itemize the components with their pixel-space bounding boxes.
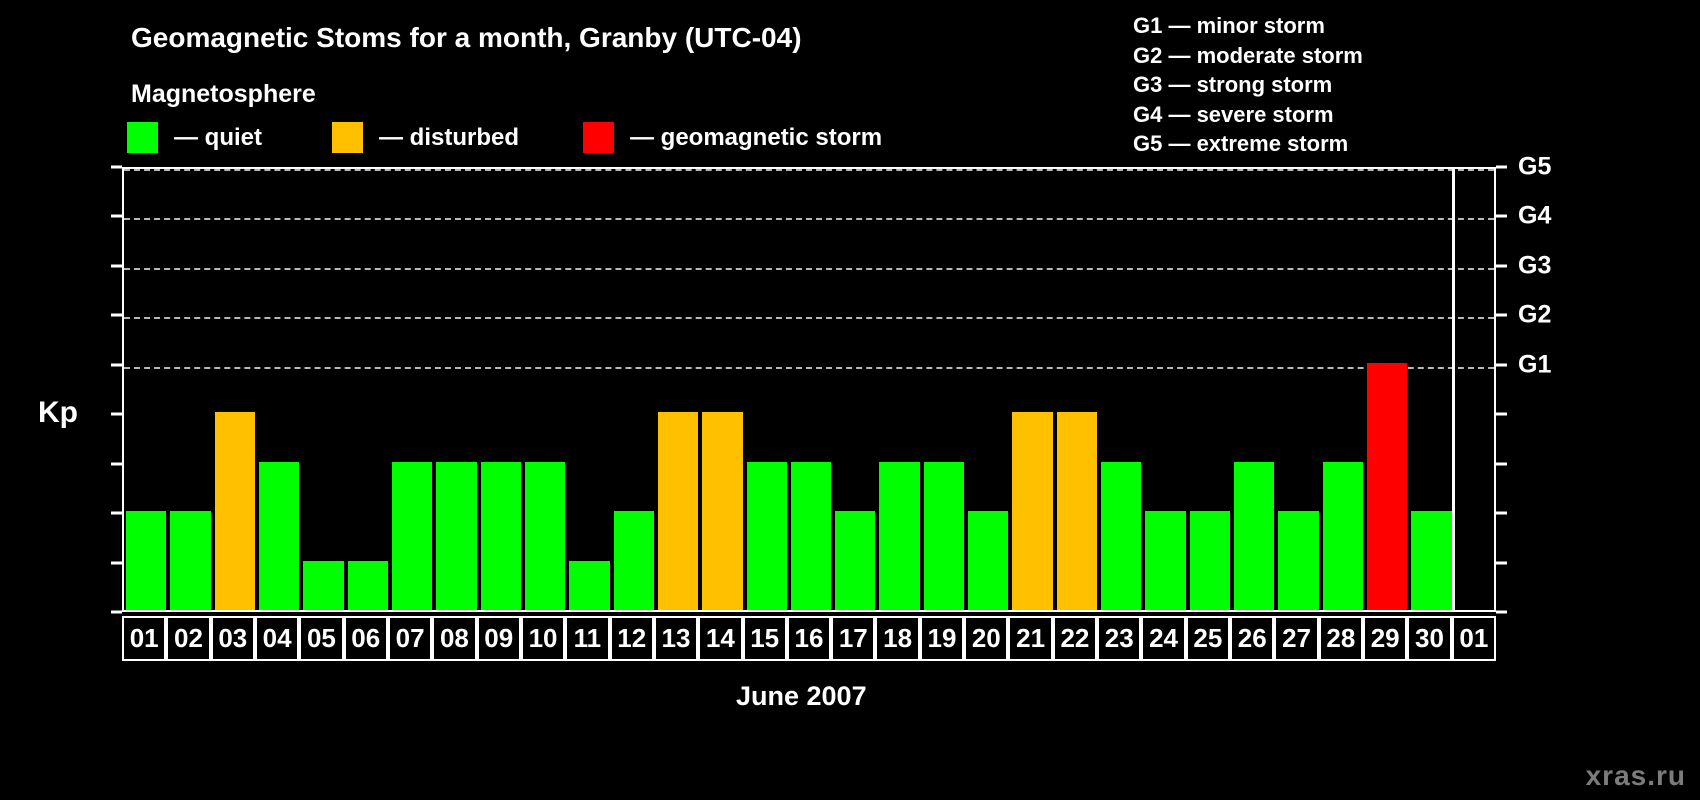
day-label[interactable]: 25 bbox=[1186, 616, 1230, 661]
day-label[interactable]: 19 bbox=[920, 616, 964, 661]
day-label[interactable]: 08 bbox=[432, 616, 476, 661]
day-label[interactable]: 11 bbox=[565, 616, 609, 661]
day-label[interactable]: 30 bbox=[1407, 616, 1451, 661]
day-label[interactable]: 24 bbox=[1141, 616, 1185, 661]
day-label[interactable]: 01 bbox=[122, 616, 166, 661]
day-label[interactable]: 21 bbox=[1008, 616, 1052, 661]
g-tick-label: G2 bbox=[1518, 303, 1551, 328]
g-tick-mark bbox=[1496, 462, 1507, 465]
day-label[interactable]: 06 bbox=[344, 616, 388, 661]
day-label[interactable]: 14 bbox=[698, 616, 742, 661]
g-axis: G1G2G3G4G5 bbox=[0, 0, 1700, 800]
day-label[interactable]: 17 bbox=[831, 616, 875, 661]
day-label[interactable]: 26 bbox=[1230, 616, 1274, 661]
day-label[interactable]: 23 bbox=[1097, 616, 1141, 661]
day-label[interactable]: 29 bbox=[1363, 616, 1407, 661]
day-label[interactable]: 03 bbox=[211, 616, 255, 661]
g-tick-mark bbox=[1496, 512, 1507, 515]
day-label[interactable]: 02 bbox=[166, 616, 210, 661]
day-label[interactable]: 20 bbox=[964, 616, 1008, 661]
x-axis-day-labels: 0102030405060708091011121314151617181920… bbox=[122, 616, 1496, 661]
day-label[interactable]: 12 bbox=[610, 616, 654, 661]
g-tick-mark bbox=[1496, 611, 1507, 614]
g-tick-mark bbox=[1496, 215, 1507, 218]
g-tick-mark bbox=[1496, 561, 1507, 564]
watermark: xras.ru bbox=[1586, 760, 1686, 792]
day-label[interactable]: 04 bbox=[255, 616, 299, 661]
day-label[interactable]: 15 bbox=[743, 616, 787, 661]
day-label[interactable]: 27 bbox=[1274, 616, 1318, 661]
day-label[interactable]: 13 bbox=[654, 616, 698, 661]
day-label[interactable]: 28 bbox=[1319, 616, 1363, 661]
g-tick-label: G5 bbox=[1518, 155, 1551, 180]
x-axis-label: June 2007 bbox=[736, 681, 867, 712]
g-tick-label: G4 bbox=[1518, 204, 1551, 229]
day-label[interactable]: 07 bbox=[388, 616, 432, 661]
g-tick-mark bbox=[1496, 363, 1507, 366]
g-tick-mark bbox=[1496, 166, 1507, 169]
day-label[interactable]: 05 bbox=[299, 616, 343, 661]
g-tick-label: G1 bbox=[1518, 352, 1551, 377]
day-label[interactable]: 16 bbox=[787, 616, 831, 661]
day-label[interactable]: 18 bbox=[875, 616, 919, 661]
day-label[interactable]: 09 bbox=[477, 616, 521, 661]
g-tick-label: G3 bbox=[1518, 253, 1551, 278]
day-label[interactable]: 01 bbox=[1452, 616, 1496, 661]
g-tick-mark bbox=[1496, 413, 1507, 416]
day-label[interactable]: 10 bbox=[521, 616, 565, 661]
g-tick-mark bbox=[1496, 264, 1507, 267]
day-label[interactable]: 22 bbox=[1053, 616, 1097, 661]
g-tick-mark bbox=[1496, 314, 1507, 317]
